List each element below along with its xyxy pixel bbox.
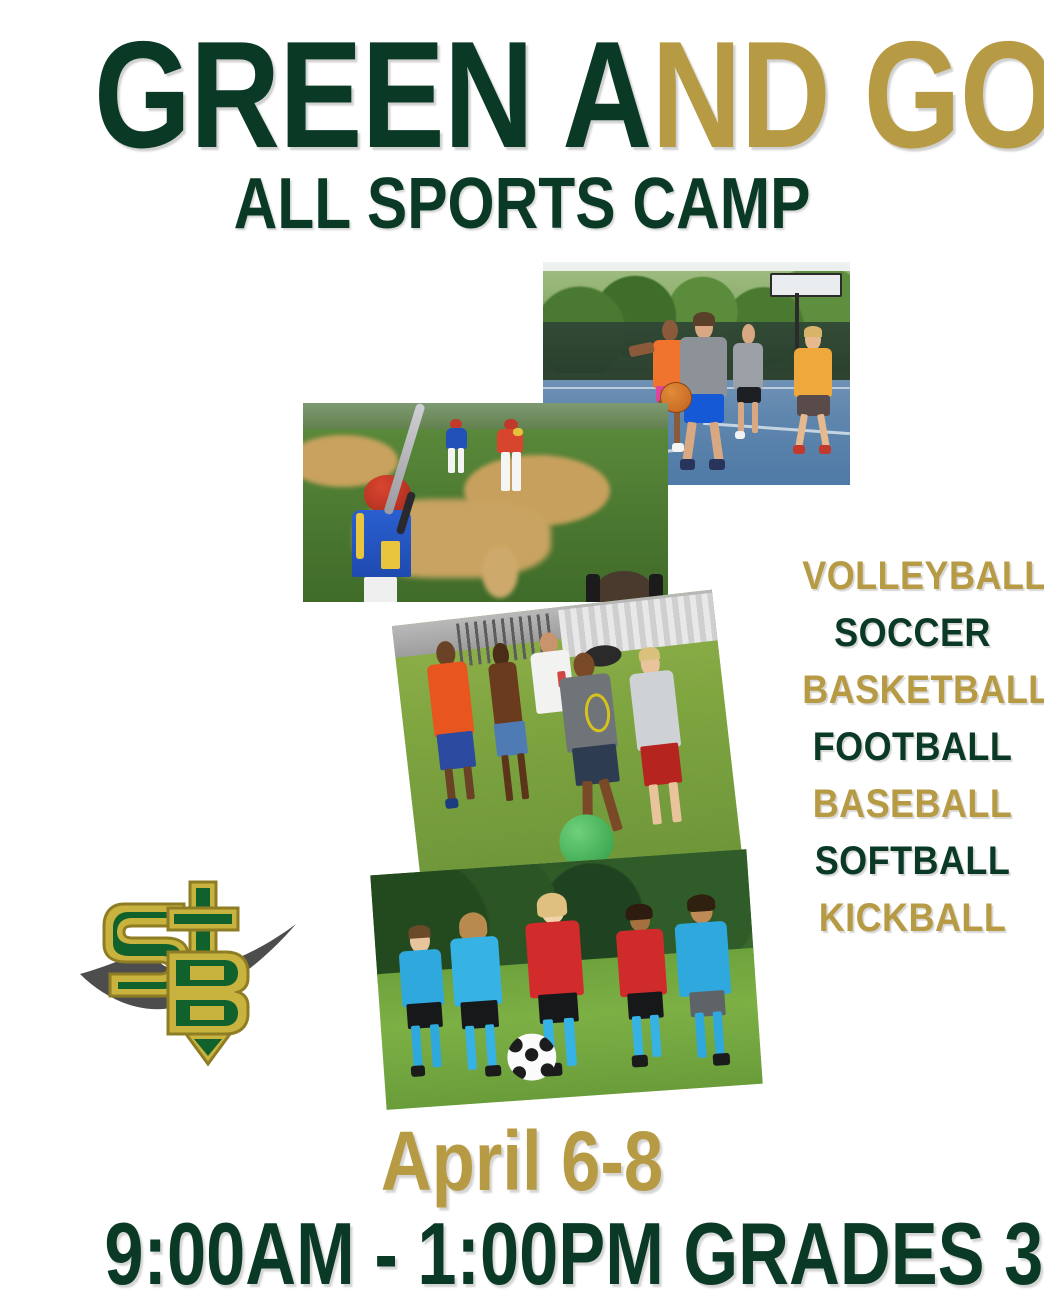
- player-leg: [752, 402, 758, 433]
- player-sock: [694, 1013, 706, 1059]
- page-title: GREEN AND GOLD: [94, 20, 950, 170]
- soccer-photo: [370, 849, 762, 1110]
- kickball-scene: [392, 590, 742, 893]
- child-leg: [517, 753, 529, 800]
- player-torso: [733, 343, 763, 389]
- player-sock: [712, 1011, 724, 1057]
- logo-b-counter-top: [190, 966, 224, 980]
- soccer-player-figure: [611, 906, 679, 1074]
- player-cleat: [713, 1053, 731, 1066]
- soccer-player-figure: [445, 913, 513, 1086]
- child-shorts: [640, 743, 683, 787]
- sport-item-football: FOOTBALL: [802, 719, 1023, 776]
- pitcher-figure: [493, 419, 530, 495]
- player-shorts: [737, 387, 761, 403]
- player-shorts: [797, 395, 830, 416]
- title-green-part: GREEN A: [94, 10, 652, 180]
- baseball-scene: [303, 403, 668, 602]
- sport-item-soccer: SOCCER: [802, 605, 1023, 662]
- sport-item-softball: SOFTBALL: [802, 833, 1023, 890]
- logo-b-counter-bottom: [190, 1006, 224, 1020]
- kicker-shorts: [572, 744, 620, 786]
- catcher-mask: [586, 574, 600, 602]
- player-jersey: [450, 936, 502, 1007]
- child-shirt: [488, 662, 523, 728]
- sport-item-baseball: BASEBALL: [802, 776, 1023, 833]
- camp-schedule: 9:00AM - 1:00PM GRADES 3-8: [104, 1208, 939, 1300]
- stb-logo-svg: [68, 856, 318, 1096]
- page-subtitle: ALL SPORTS CAMP: [84, 168, 961, 240]
- camp-dates: April 6-8: [84, 1118, 961, 1204]
- logo-cross-arm-fill: [174, 914, 232, 924]
- child-leg: [444, 768, 456, 802]
- sport-item-basketball: BASKETBALL: [802, 662, 1023, 719]
- fielder-leg: [448, 448, 454, 473]
- player-shoe: [819, 445, 832, 454]
- child-hair: [638, 646, 660, 661]
- player-cleat: [485, 1064, 502, 1077]
- child-shoe: [445, 797, 459, 808]
- player-leg: [709, 421, 724, 462]
- player-leg: [738, 402, 744, 433]
- player-sock: [411, 1025, 422, 1069]
- pitcher-leg: [501, 452, 510, 491]
- pitcher-leg: [512, 452, 521, 491]
- player-leg: [795, 414, 808, 450]
- player-sock: [465, 1026, 477, 1071]
- player-head: [742, 324, 755, 344]
- child-leg: [649, 784, 662, 825]
- child-leg: [501, 755, 513, 802]
- player-hair: [408, 925, 431, 939]
- player-figure: [789, 329, 841, 458]
- fielder-torso: [446, 428, 467, 449]
- player-hair: [804, 326, 822, 336]
- child-shorts: [494, 721, 528, 757]
- child-shirt: [426, 661, 474, 738]
- fielder-figure: [442, 419, 471, 475]
- player-sock: [430, 1024, 441, 1068]
- soccer-player-figure: [671, 897, 743, 1075]
- poster-canvas: GREEN AND GOLD ALL SPORTS CAMP: [0, 0, 1044, 1305]
- player-figure: [727, 324, 770, 440]
- player-sock: [650, 1014, 661, 1057]
- player-sock: [564, 1018, 577, 1066]
- jersey-stripe: [356, 513, 364, 559]
- player-shoe: [680, 459, 695, 470]
- child-shorts: [436, 730, 476, 770]
- player-hair: [693, 312, 715, 326]
- baseball-photo: [303, 403, 668, 602]
- player-torso: [794, 348, 833, 397]
- player-cleat: [631, 1055, 648, 1068]
- player-jersey: [616, 928, 668, 997]
- soccer-scene: [370, 849, 762, 1110]
- sports-list: VOLLEYBALL SOCCER BASKETBALL FOOTBALL BA…: [790, 548, 1035, 947]
- sport-item-kickball: KICKBALL: [802, 890, 1023, 947]
- base-path: [482, 546, 519, 598]
- player-cleat: [411, 1065, 425, 1077]
- player-leg: [682, 421, 697, 462]
- title-gold-part: ND GOLD: [651, 10, 1044, 180]
- backboard: [770, 273, 842, 297]
- player-shoe: [709, 459, 724, 470]
- player-hair: [686, 893, 716, 912]
- player-sock: [632, 1016, 643, 1059]
- fielder-leg: [458, 448, 464, 473]
- player-shoe: [735, 431, 745, 439]
- batter-pants: [364, 577, 396, 603]
- sport-item-volleyball: VOLLEYBALL: [802, 548, 1023, 605]
- school-logo: [68, 856, 318, 1096]
- player-leg: [817, 414, 830, 450]
- tree-line: [303, 403, 668, 429]
- child-leg: [463, 766, 475, 800]
- player-hair: [625, 903, 653, 921]
- kickball-photo: [392, 590, 742, 893]
- child-shirt: [629, 670, 681, 751]
- jersey-number: [381, 541, 400, 569]
- player-jersey: [525, 920, 584, 999]
- child-leg: [668, 781, 681, 822]
- player-jersey: [675, 920, 732, 996]
- player-sock: [485, 1024, 497, 1069]
- player-jersey: [399, 949, 445, 1008]
- player-shoe: [793, 445, 806, 454]
